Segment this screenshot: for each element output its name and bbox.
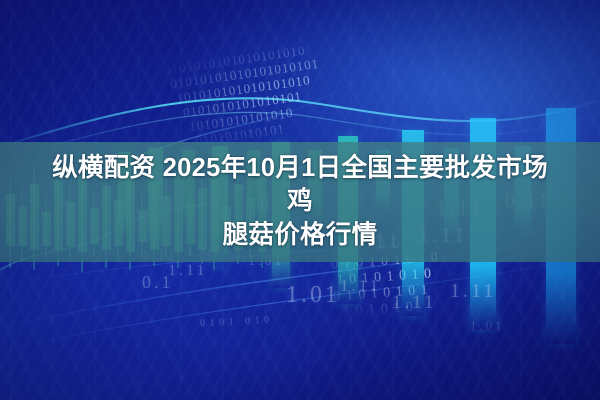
banner-image: 0101010101010101010 01010101010101010101… [0,0,600,400]
title-line-2: 腿菇价格行情 [223,221,378,249]
price-tag: 1.11 [450,280,496,303]
title-band: 纵横配资 2025年10月1日全国主要批发市场鸡 腿菇价格行情 [0,142,600,262]
price-tag: 1.01 [470,318,505,334]
page-title: 纵横配资 2025年10月1日全国主要批发市场鸡 腿菇价格行情 [40,152,560,253]
title-line-1: 纵横配资 2025年10月1日全国主要批发市场鸡 [52,154,548,216]
price-tag: 1.01 [286,282,340,309]
price-tag: 0.1 [142,272,174,293]
price-tag: 1.11 [392,292,437,314]
price-tag: 1.11 [340,276,381,296]
